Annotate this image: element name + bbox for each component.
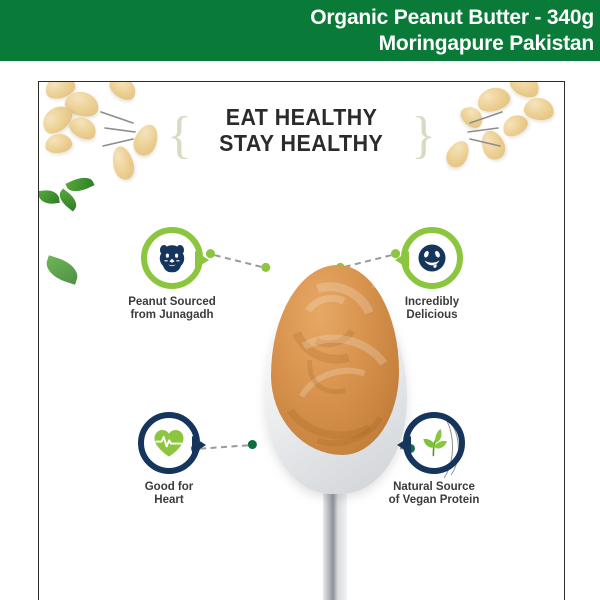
feature-label: Natural Source of Vegan Protein	[359, 481, 509, 507]
feature-label: Incredibly Delicious	[357, 296, 507, 322]
smiley-face-icon	[415, 241, 449, 275]
product-title-line-1: Organic Peanut Butter - 340g	[310, 5, 594, 31]
headline-brace-right-icon: }	[411, 106, 436, 165]
product-infographic-panel: EAT HEALTHY STAY HEALTHY { }	[38, 81, 565, 600]
ring-pointer-icon	[397, 436, 411, 454]
ring-pointer-icon	[395, 251, 409, 269]
feature-badge-vegan-protein[interactable]: Natural Source of Vegan Protein	[359, 412, 509, 507]
headline-line-2: STAY HEALTHY	[219, 130, 383, 156]
feature-badge-incredibly-delicious[interactable]: Incredibly Delicious	[357, 227, 507, 322]
product-title-banner: Organic Peanut Butter - 340g Moringapure…	[0, 0, 600, 61]
feature-badge-peanut-sourced[interactable]: Peanut Sourced from Junagadh	[97, 227, 247, 322]
ring-pointer-icon	[195, 251, 209, 269]
connector-dot	[248, 440, 258, 450]
ring-pointer-icon	[192, 436, 206, 454]
headline-rays-right-icon	[446, 108, 504, 154]
leaves-icon	[416, 426, 452, 460]
feature-label: Peanut Sourced from Junagadh	[97, 296, 247, 322]
feature-badge-good-for-heart[interactable]: Good for Heart	[94, 412, 244, 507]
product-title-line-2: Moringapure Pakistan	[379, 31, 594, 57]
feature-ring-navy	[403, 412, 465, 474]
heart-pulse-icon	[151, 426, 187, 460]
feature-ring-navy	[138, 412, 200, 474]
feature-ring-lime	[141, 227, 203, 289]
headline-line-1: EAT HEALTHY	[226, 104, 378, 130]
lion-head-icon	[155, 241, 189, 275]
headline-rays-left-icon	[99, 108, 157, 154]
headline-brace-left-icon: {	[167, 106, 192, 165]
feature-ring-lime	[401, 227, 463, 289]
feature-label: Good for Heart	[94, 481, 244, 507]
